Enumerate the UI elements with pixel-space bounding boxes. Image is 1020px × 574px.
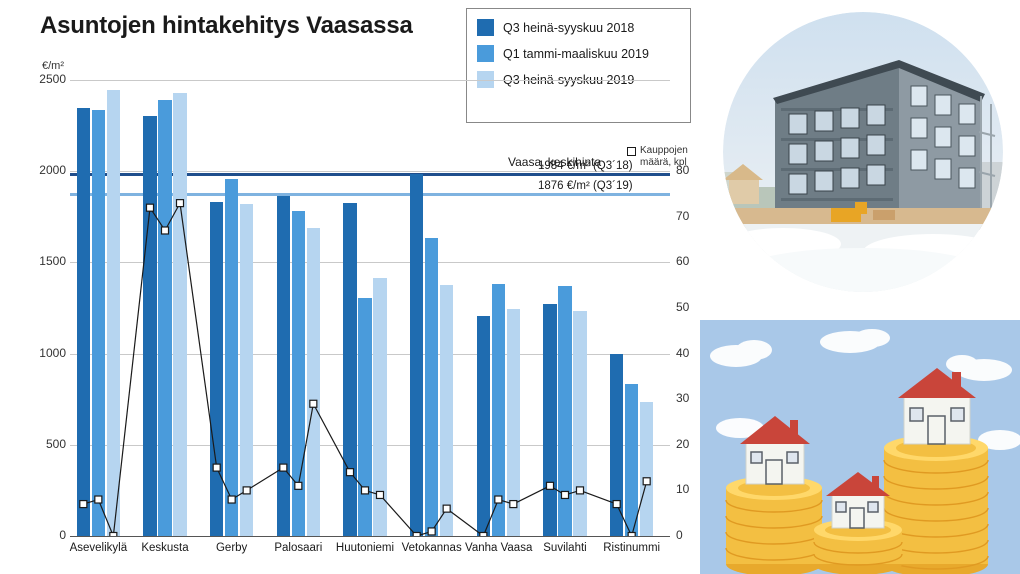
bar [440,285,454,536]
bar [507,309,521,536]
construction-photo [723,12,1003,292]
bar-group [610,80,654,536]
bar-groups: AsevelikyläKeskustaGerbyPalosaariHuutoni… [70,80,670,536]
x-axis-line [70,536,670,537]
coins-houses-illustration [700,320,1020,574]
bar [307,228,321,536]
bar [358,298,372,536]
bar [543,304,557,536]
bar-group [343,80,387,536]
y-axis-unit-label: €/m² [42,60,64,72]
bar [107,90,121,537]
legend-item-1: Q1 tammi-maaliskuu 2019 [477,45,680,62]
bar-group [410,80,454,536]
bar [425,238,439,536]
legend-label-1: Q1 tammi-maaliskuu 2019 [503,47,649,61]
bar [477,316,491,536]
x-axis-tick-label: Vanha Vaasa [465,542,532,554]
bar [492,284,506,536]
bar [373,278,387,536]
y-axis-tick-label: 1500 [26,254,66,268]
x-axis-tick-label: Palosaari [265,542,332,554]
secondary-axis-tick-label: 80 [676,163,716,177]
bar-group [277,80,321,536]
x-axis-tick-label: Keskusta [132,542,199,554]
bar-group [77,80,121,536]
x-axis-tick-label: Ristinummi [598,542,665,554]
y-axis-tick-label: 500 [26,437,66,451]
bar [173,93,187,536]
bar [277,196,291,536]
bar [158,100,172,536]
bar [92,110,106,536]
y-axis-tick-label: 0 [26,528,66,542]
bar [292,211,306,536]
bar-group [210,80,254,536]
secondary-axis-tick-label: 60 [676,254,716,268]
bar [77,108,91,536]
bar [240,204,254,536]
bar-group [143,80,187,536]
legend-item-0: Q3 heinä-syyskuu 2018 [477,19,680,36]
bar [210,202,224,536]
bar [573,311,587,536]
y-axis-tick-label: 2500 [26,72,66,86]
bar [143,116,157,536]
x-axis-tick-label: Huutoniemi [332,542,399,554]
secondary-axis-tick-label: 50 [676,300,716,314]
y-axis-tick-label: 1000 [26,346,66,360]
x-axis-tick-label: Gerby [198,542,265,554]
x-axis-tick-label: Suvilahti [532,542,599,554]
bar [558,286,572,536]
x-axis-tick-label: Vetokannas [398,542,465,554]
x-axis-tick-label: Asevelikylä [65,542,132,554]
legend-swatch-0 [477,19,494,36]
plot-area: 05001000150020002500 01020304050607080 1… [70,80,670,536]
bar [225,179,239,536]
page-title: Asuntojen hintakehitys Vaasassa [40,12,413,40]
bar-group [543,80,587,536]
bar [343,203,357,536]
bar [625,384,639,536]
bar [640,402,654,536]
illustration-svg [700,320,1020,574]
y-axis-tick-label: 2000 [26,163,66,177]
bar [610,354,624,536]
photo-svg [723,12,1003,292]
secondary-axis-tick-label: 70 [676,209,716,223]
bar-group [477,80,521,536]
legend-swatch-1 [477,45,494,62]
legend-label-0: Q3 heinä-syyskuu 2018 [503,21,634,35]
chart-panel: Asuntojen hintakehitys Vaasassa €/m² Kau… [0,0,700,574]
bar [410,174,424,536]
